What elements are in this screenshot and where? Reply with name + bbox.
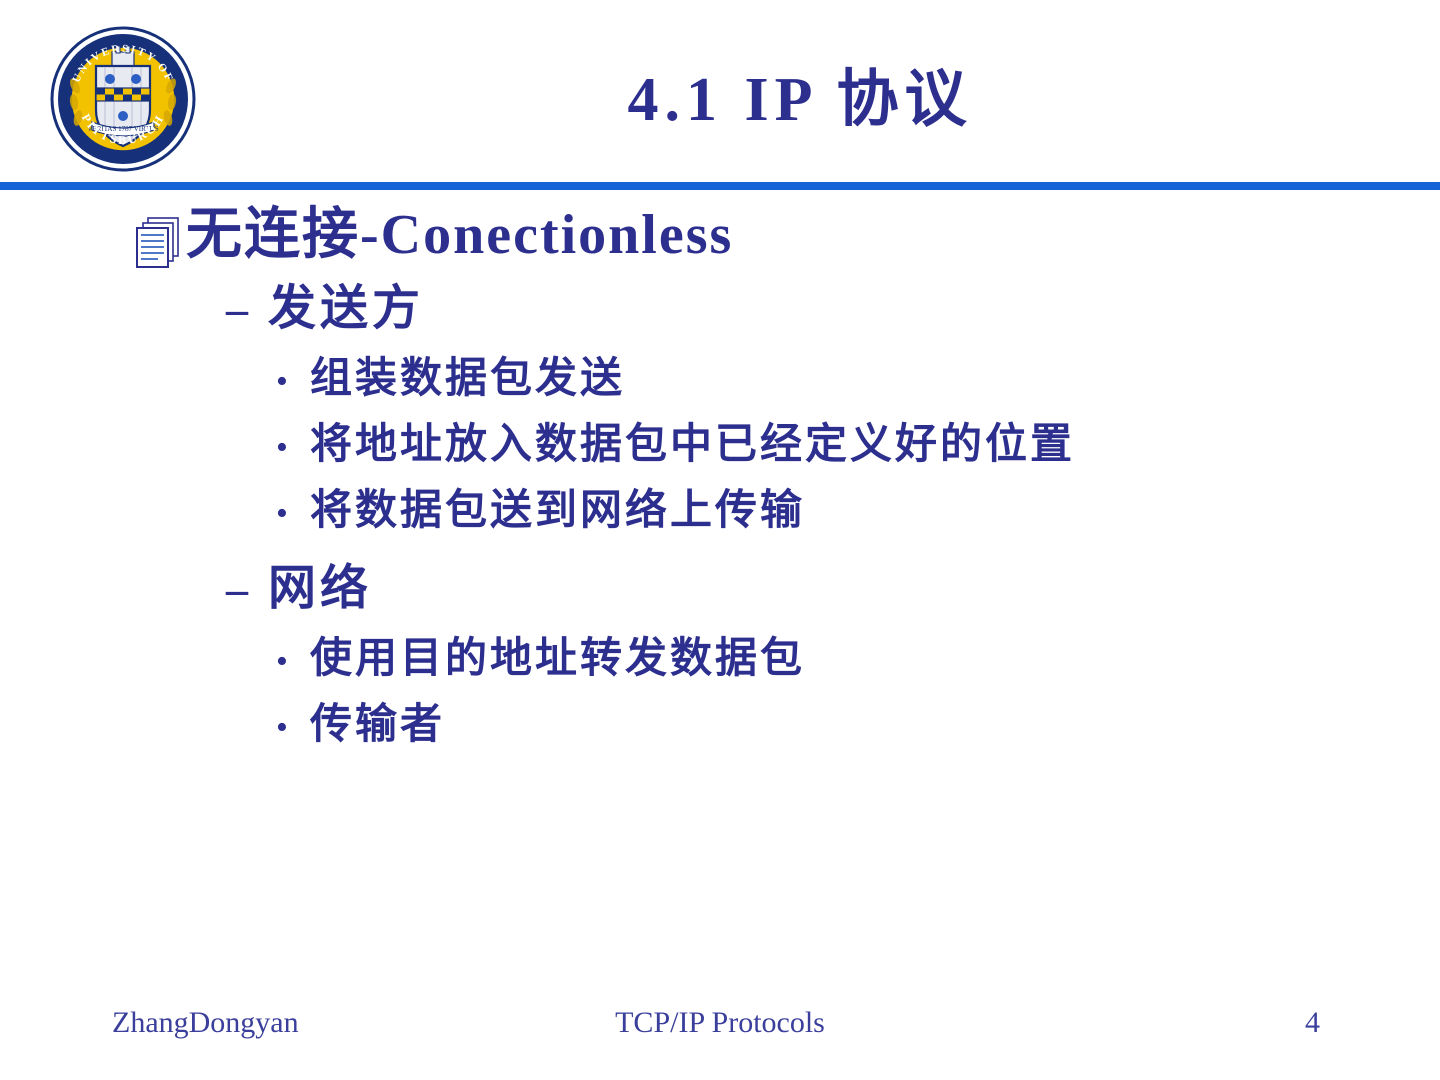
dot-bullet-icon: •	[276, 699, 310, 757]
bullet-level3: • 将地址放入数据包中已经定义好的位置	[276, 416, 1440, 482]
title-divider-rule	[0, 182, 1440, 190]
footer-page-number: 4	[1305, 1002, 1320, 1044]
slide-content-body: 无连接-Conectionless – 发送方 • 组装数据包发送 • 将地址放…	[0, 200, 1440, 980]
page-title: 4.1 IP 协议	[220, 66, 1380, 134]
bullet-level1: 无连接-Conectionless	[132, 200, 1440, 278]
dash-bullet-icon: –	[226, 559, 268, 621]
dot-bullet-icon: •	[276, 633, 310, 691]
bullet-level3-label: 将地址放入数据包中已经定义好的位置	[310, 416, 1075, 474]
bullet-level3: • 使用目的地址转发数据包	[276, 630, 1440, 696]
bullet-level1-label: 无连接-Conectionless	[186, 200, 733, 270]
bullet-level3-label: 使用目的地址转发数据包	[310, 630, 805, 688]
footer-course-title: TCP/IP Protocols	[0, 1002, 1440, 1044]
bullet-level3: • 传输者	[276, 696, 1440, 762]
bullet-level3: • 将数据包送到网络上传输	[276, 482, 1440, 548]
documents-stack-icon	[132, 214, 186, 272]
bullet-level3-label: 将数据包送到网络上传输	[310, 482, 805, 540]
bullet-level2-label: 网络	[268, 558, 372, 620]
dash-bullet-icon: –	[226, 279, 268, 341]
bullet-level2-sender: – 发送方	[226, 278, 1440, 350]
dot-bullet-icon: •	[276, 419, 310, 477]
spacer	[0, 548, 1440, 558]
bullet-level3: • 组装数据包发送	[276, 350, 1440, 416]
slide-header: VERITAS 1787 VIRTUS UNIVERSITY OF PITTSB…	[0, 0, 1440, 186]
university-seal-logo: VERITAS 1787 VIRTUS UNIVERSITY OF PITTSB…	[48, 24, 198, 174]
dot-bullet-icon: •	[276, 353, 310, 411]
bullet-level2-label: 发送方	[268, 278, 424, 340]
bullet-level3-label: 组装数据包发送	[310, 350, 625, 408]
bullet-level3-label: 传输者	[310, 696, 445, 754]
slide-footer: ZhangDongyan TCP/IP Protocols 4	[0, 1002, 1440, 1052]
bullet-level2-network: – 网络	[226, 558, 1440, 630]
dot-bullet-icon: •	[276, 485, 310, 543]
